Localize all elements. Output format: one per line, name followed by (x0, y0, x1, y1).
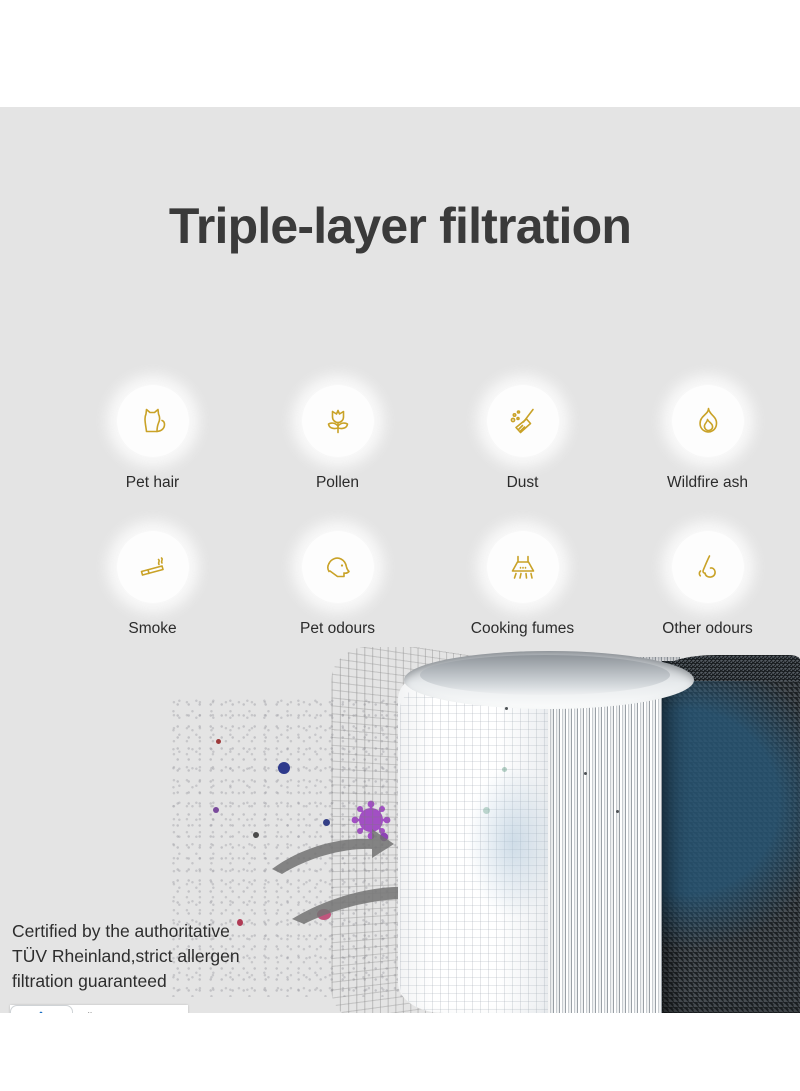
tuv-details: Allergy Care www.tuv.com ID 1111256725 (73, 1005, 145, 1013)
tuv-service-name: Allergy Care (81, 1011, 139, 1013)
activated-carbon-layer (662, 661, 800, 1013)
filter-label: Other odours (662, 621, 752, 637)
speck (584, 772, 587, 775)
flower-icon (302, 385, 374, 457)
particle-dark (253, 832, 259, 838)
filter-row-1: Pet hair Pollen (60, 385, 800, 491)
filter-label: Wildfire ash (667, 475, 748, 491)
filter-label: Smoke (128, 621, 176, 637)
cat-icon (117, 385, 189, 457)
flame-icon (672, 385, 744, 457)
page-title: Triple-layer filtration (0, 197, 800, 255)
tuv-rheinland-badge: TÜVRheinland CERTIFIED Allergy Care www.… (10, 1005, 188, 1013)
particle-blue (278, 762, 290, 774)
cigarette-icon (117, 531, 189, 603)
filter-label: Pollen (316, 475, 359, 491)
content-panel: Triple-layer filtration Pet hair (0, 107, 800, 1013)
hepa-reflection (468, 767, 558, 917)
filter-item-pet-hair: Pet hair (60, 385, 245, 491)
certification-line-2: TÜV Rheinland,strict allergen (12, 944, 282, 969)
filter-label: Dust (507, 475, 539, 491)
filter-item-dust: Dust (430, 385, 615, 491)
filter-item-cooking-fumes: Cooking fumes (430, 531, 615, 637)
filter-item-pollen: Pollen (245, 385, 430, 491)
speck-green (483, 807, 490, 814)
tuv-triangle-icon (21, 1011, 61, 1013)
filter-item-other-odours: Other odours (615, 531, 800, 637)
filter-label: Pet hair (126, 475, 179, 491)
filter-top-rim-inner (420, 655, 670, 695)
filter-item-wildfire-ash: Wildfire ash (615, 385, 800, 491)
pleated-media-layer (548, 657, 680, 1013)
certification-line-1: Certified by the authoritative (12, 919, 282, 944)
speck (616, 810, 619, 813)
filter-row-2: Smoke Pet odours (60, 531, 800, 637)
tuv-logo-block: TÜVRheinland CERTIFIED (10, 1005, 73, 1013)
particle-violet (213, 807, 219, 813)
filter-capability-grid: Pet hair Pollen (60, 385, 800, 636)
product-feature-image: Triple-layer filtration Pet hair (0, 0, 800, 1091)
speck (505, 707, 508, 710)
certification-text: Certified by the authoritative TÜV Rhein… (12, 919, 282, 994)
broom-icon (487, 385, 559, 457)
speck-green (502, 767, 507, 772)
dog-head-icon (302, 531, 374, 603)
filter-item-pet-odours: Pet odours (245, 531, 430, 637)
certification-line-3: filtration guaranteed (12, 969, 282, 994)
range-hood-icon (487, 531, 559, 603)
nose-icon (672, 531, 744, 603)
particle-red (216, 739, 221, 744)
filter-label: Pet odours (300, 621, 375, 637)
filter-label: Cooking fumes (471, 621, 574, 637)
filter-item-smoke: Smoke (60, 531, 245, 637)
